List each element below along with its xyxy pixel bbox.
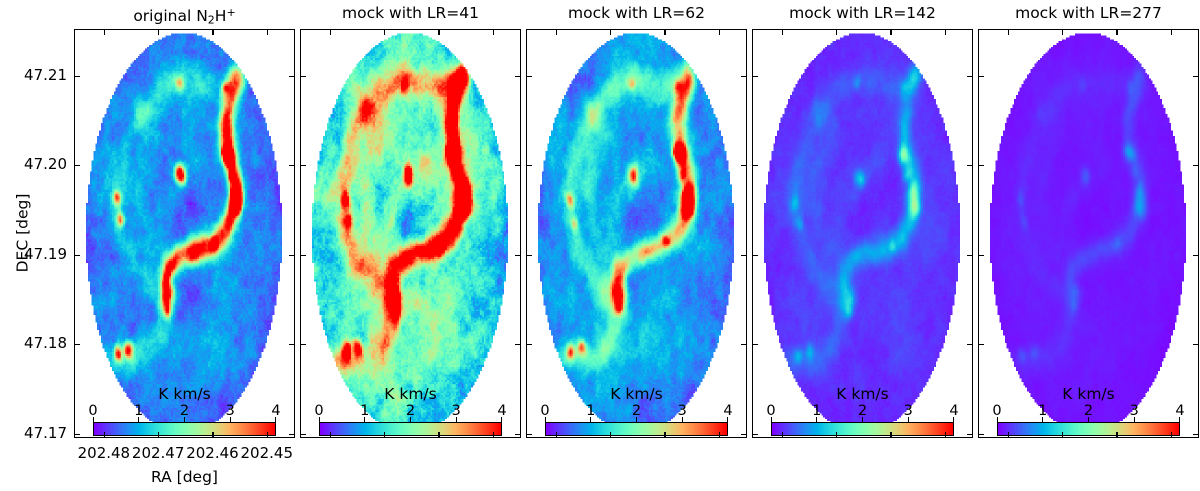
colorbar-gradient[interactable] [319, 422, 502, 436]
y-tickmark [1193, 76, 1199, 77]
colorbar-gradient[interactable] [997, 422, 1180, 436]
map-panel-panel-lr-277[interactable] [978, 29, 1199, 438]
colorbar-tick-4: 4 [1175, 403, 1184, 419]
y-tickmark [526, 434, 532, 435]
colorbar-tick-0: 0 [766, 403, 775, 419]
y-tickmark [967, 434, 973, 435]
colorbar-tick-3: 3 [1130, 403, 1139, 419]
colorbar-unit-label: K km/s [545, 386, 728, 403]
colorbar-tick-2: 2 [632, 403, 641, 419]
y-tick-label-47.21: 47.21 [24, 67, 67, 83]
x-tickmark [1062, 29, 1063, 35]
colorbar-tick-1: 1 [134, 403, 143, 419]
y-tickmark [300, 76, 306, 77]
y-tickmark [300, 255, 306, 256]
y-tickmark [74, 344, 80, 345]
x-tickmark [438, 432, 439, 438]
colorbar-tick-2: 2 [858, 403, 867, 419]
colorbar-tick-2: 2 [406, 403, 415, 419]
x-tickmark [384, 432, 385, 438]
y-tickmark [526, 255, 532, 256]
x-tickmark [719, 29, 720, 35]
x-tickmark [330, 29, 331, 35]
colorbar-tick-4: 4 [497, 403, 506, 419]
x-tickmark [267, 29, 268, 35]
x-tickmark [719, 432, 720, 438]
colorbar-tick-0: 0 [992, 403, 1001, 419]
y-tickmark [978, 76, 984, 77]
y-tickmark [289, 76, 295, 77]
x-tickmark [556, 432, 557, 438]
colorbar-tick-1: 1 [812, 403, 821, 419]
colorbar-tick-0: 0 [314, 403, 323, 419]
y-axis-label: DEC [deg] [13, 28, 31, 437]
y-tickmark [752, 255, 758, 256]
colorbar-panel-lr-41: K km/s01234 [319, 386, 502, 432]
x-tickmark [610, 29, 611, 35]
colorbar-tick-1: 1 [1038, 403, 1047, 419]
y-tickmark [741, 434, 747, 435]
y-tickmark [741, 76, 747, 77]
panel-title-3: mock with LR=142 [752, 2, 973, 24]
y-tickmark [289, 344, 295, 345]
x-tickmark [104, 432, 105, 438]
x-tickmark [1008, 432, 1009, 438]
y-tickmark [1193, 165, 1199, 166]
colorbar-tick-3: 3 [678, 403, 687, 419]
y-tickmark [978, 165, 984, 166]
colorbar-tick-3: 3 [226, 403, 235, 419]
intensity-map-panel-original [75, 30, 293, 436]
colorbar-tick-3: 3 [452, 403, 461, 419]
x-tick-label-202.45: 202.45 [222, 445, 312, 461]
x-tickmark [1171, 29, 1172, 35]
y-tick-label-47.19: 47.19 [24, 246, 67, 262]
y-tickmark [752, 434, 758, 435]
panel-title-1: mock with LR=41 [300, 2, 521, 24]
x-tickmark [1116, 432, 1117, 438]
x-tickmark [610, 432, 611, 438]
y-tickmark [515, 255, 521, 256]
y-tickmark [752, 165, 758, 166]
x-tickmark [1008, 29, 1009, 35]
colorbar-unit-label: K km/s [997, 386, 1180, 403]
colorbar-unit-label: K km/s [93, 386, 276, 403]
x-axis-label: RA [deg] [74, 468, 295, 486]
x-tickmark [158, 432, 159, 438]
colorbar-tick-2: 2 [1084, 403, 1093, 419]
y-tickmark [515, 344, 521, 345]
x-tickmark [890, 432, 891, 438]
x-tickmark [158, 29, 159, 35]
y-tickmark [967, 76, 973, 77]
x-tickmark [330, 432, 331, 438]
map-panel-panel-lr-142[interactable] [752, 29, 973, 438]
y-tick-label-47.17: 47.17 [24, 425, 67, 441]
colorbar-tick-0: 0 [540, 403, 549, 419]
y-tick-label-47.18: 47.18 [24, 335, 67, 351]
colorbar-unit-label: K km/s [319, 386, 502, 403]
y-tickmark [978, 434, 984, 435]
x-tickmark [836, 29, 837, 35]
y-tickmark [526, 344, 532, 345]
x-tickmark [945, 432, 946, 438]
x-tickmark [1062, 432, 1063, 438]
x-tickmark [945, 29, 946, 35]
colorbar-gradient[interactable] [93, 422, 276, 436]
colorbar-tick-labels: 01234 [93, 403, 276, 420]
y-tickmark [741, 255, 747, 256]
intensity-map-panel-lr-62 [527, 30, 745, 436]
y-tickmark [1193, 344, 1199, 345]
map-panel-panel-lr-41[interactable] [300, 29, 521, 438]
y-tickmark [74, 76, 80, 77]
intensity-map-panel-lr-277 [979, 30, 1197, 436]
x-tickmark [384, 29, 385, 35]
y-tickmark [515, 434, 521, 435]
y-tickmark [526, 76, 532, 77]
y-tickmark [515, 165, 521, 166]
x-tickmark [1171, 432, 1172, 438]
y-tickmark [752, 76, 758, 77]
panel-title-4: mock with LR=277 [978, 2, 1199, 24]
figure-canvas: DEC [deg] RA [deg] original N2H+K km/s01… [0, 0, 1200, 491]
x-tickmark [493, 432, 494, 438]
colorbar-panel-lr-62: K km/s01234 [545, 386, 728, 432]
y-tickmark [515, 76, 521, 77]
colorbar-tick-0: 0 [88, 403, 97, 419]
colorbar-tick-1: 1 [360, 403, 369, 419]
colorbar-tick-4: 4 [271, 403, 280, 419]
panel-title-2: mock with LR=62 [526, 2, 747, 24]
colorbar-tick-labels: 01234 [545, 403, 728, 420]
y-tickmark [74, 434, 80, 435]
colorbar-unit-label: K km/s [771, 386, 954, 403]
y-tickmark [741, 165, 747, 166]
y-tickmark [1193, 434, 1199, 435]
y-tickmark [300, 434, 306, 435]
map-panel-panel-lr-62[interactable] [526, 29, 747, 438]
x-tickmark [104, 29, 105, 35]
colorbar-tick-labels: 01234 [997, 403, 1180, 420]
x-tickmark [782, 432, 783, 438]
colorbar-tick-1: 1 [586, 403, 595, 419]
y-tickmark [967, 255, 973, 256]
y-tickmark [289, 434, 295, 435]
y-tickmark [978, 344, 984, 345]
y-tickmark [752, 344, 758, 345]
x-tickmark [782, 29, 783, 35]
y-tickmark [74, 255, 80, 256]
x-tickmark [212, 29, 213, 35]
y-tickmark [300, 165, 306, 166]
colorbar-panel-original: K km/s01234 [93, 386, 276, 432]
x-tickmark [890, 29, 891, 35]
map-panel-panel-original[interactable] [74, 29, 295, 438]
x-tickmark [493, 29, 494, 35]
x-tickmark [836, 432, 837, 438]
intensity-map-panel-lr-41 [301, 30, 519, 436]
x-tickmark [212, 432, 213, 438]
colorbar-tick-2: 2 [180, 403, 189, 419]
y-tickmark [967, 165, 973, 166]
colorbar-tick-4: 4 [723, 403, 732, 419]
x-tickmark [556, 29, 557, 35]
y-tickmark [978, 255, 984, 256]
colorbar-gradient[interactable] [771, 422, 954, 436]
colorbar-panel-lr-277: K km/s01234 [997, 386, 1180, 432]
y-tickmark [1193, 255, 1199, 256]
colorbar-gradient[interactable] [545, 422, 728, 436]
x-tickmark [1116, 29, 1117, 35]
colorbar-tick-labels: 01234 [319, 403, 502, 420]
y-tickmark [289, 255, 295, 256]
colorbar-tick-labels: 01234 [771, 403, 954, 420]
y-tick-label-47.2: 47.20 [24, 156, 67, 172]
panel-title-0: original N2H+ [74, 2, 295, 32]
y-tickmark [300, 344, 306, 345]
y-tickmark [741, 344, 747, 345]
y-tickmark [967, 344, 973, 345]
x-tickmark [438, 29, 439, 35]
colorbar-tick-3: 3 [904, 403, 913, 419]
y-tickmark [289, 165, 295, 166]
colorbar-tick-4: 4 [949, 403, 958, 419]
y-tickmark [74, 165, 80, 166]
x-tickmark [664, 29, 665, 35]
x-tickmark [267, 432, 268, 438]
x-tickmark [664, 432, 665, 438]
intensity-map-panel-lr-142 [753, 30, 971, 436]
y-tickmark [526, 165, 532, 166]
colorbar-panel-lr-142: K km/s01234 [771, 386, 954, 432]
